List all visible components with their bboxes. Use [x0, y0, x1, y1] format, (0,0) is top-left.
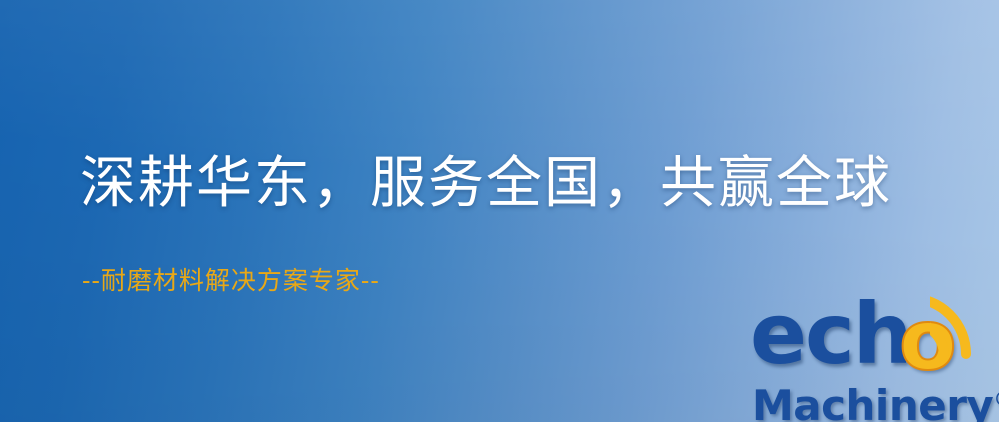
- logo-subword-text: Machinery: [752, 381, 993, 422]
- logo-wordmark-ech: ech: [750, 292, 911, 376]
- banner-headline: 深耕华东，服务全国，共赢全球: [80, 152, 892, 216]
- banner-subheadline: --耐磨材料解决方案专家--: [82, 266, 380, 296]
- registered-trademark-icon: ®: [993, 387, 999, 411]
- company-logo[interactable]: ech o Machinery®: [742, 292, 998, 422]
- signal-waves-icon: [930, 292, 999, 364]
- hero-banner: 深耕华东，服务全国，共赢全球 --耐磨材料解决方案专家-- ech o Mach…: [0, 0, 999, 422]
- logo-subword: Machinery®: [752, 378, 999, 422]
